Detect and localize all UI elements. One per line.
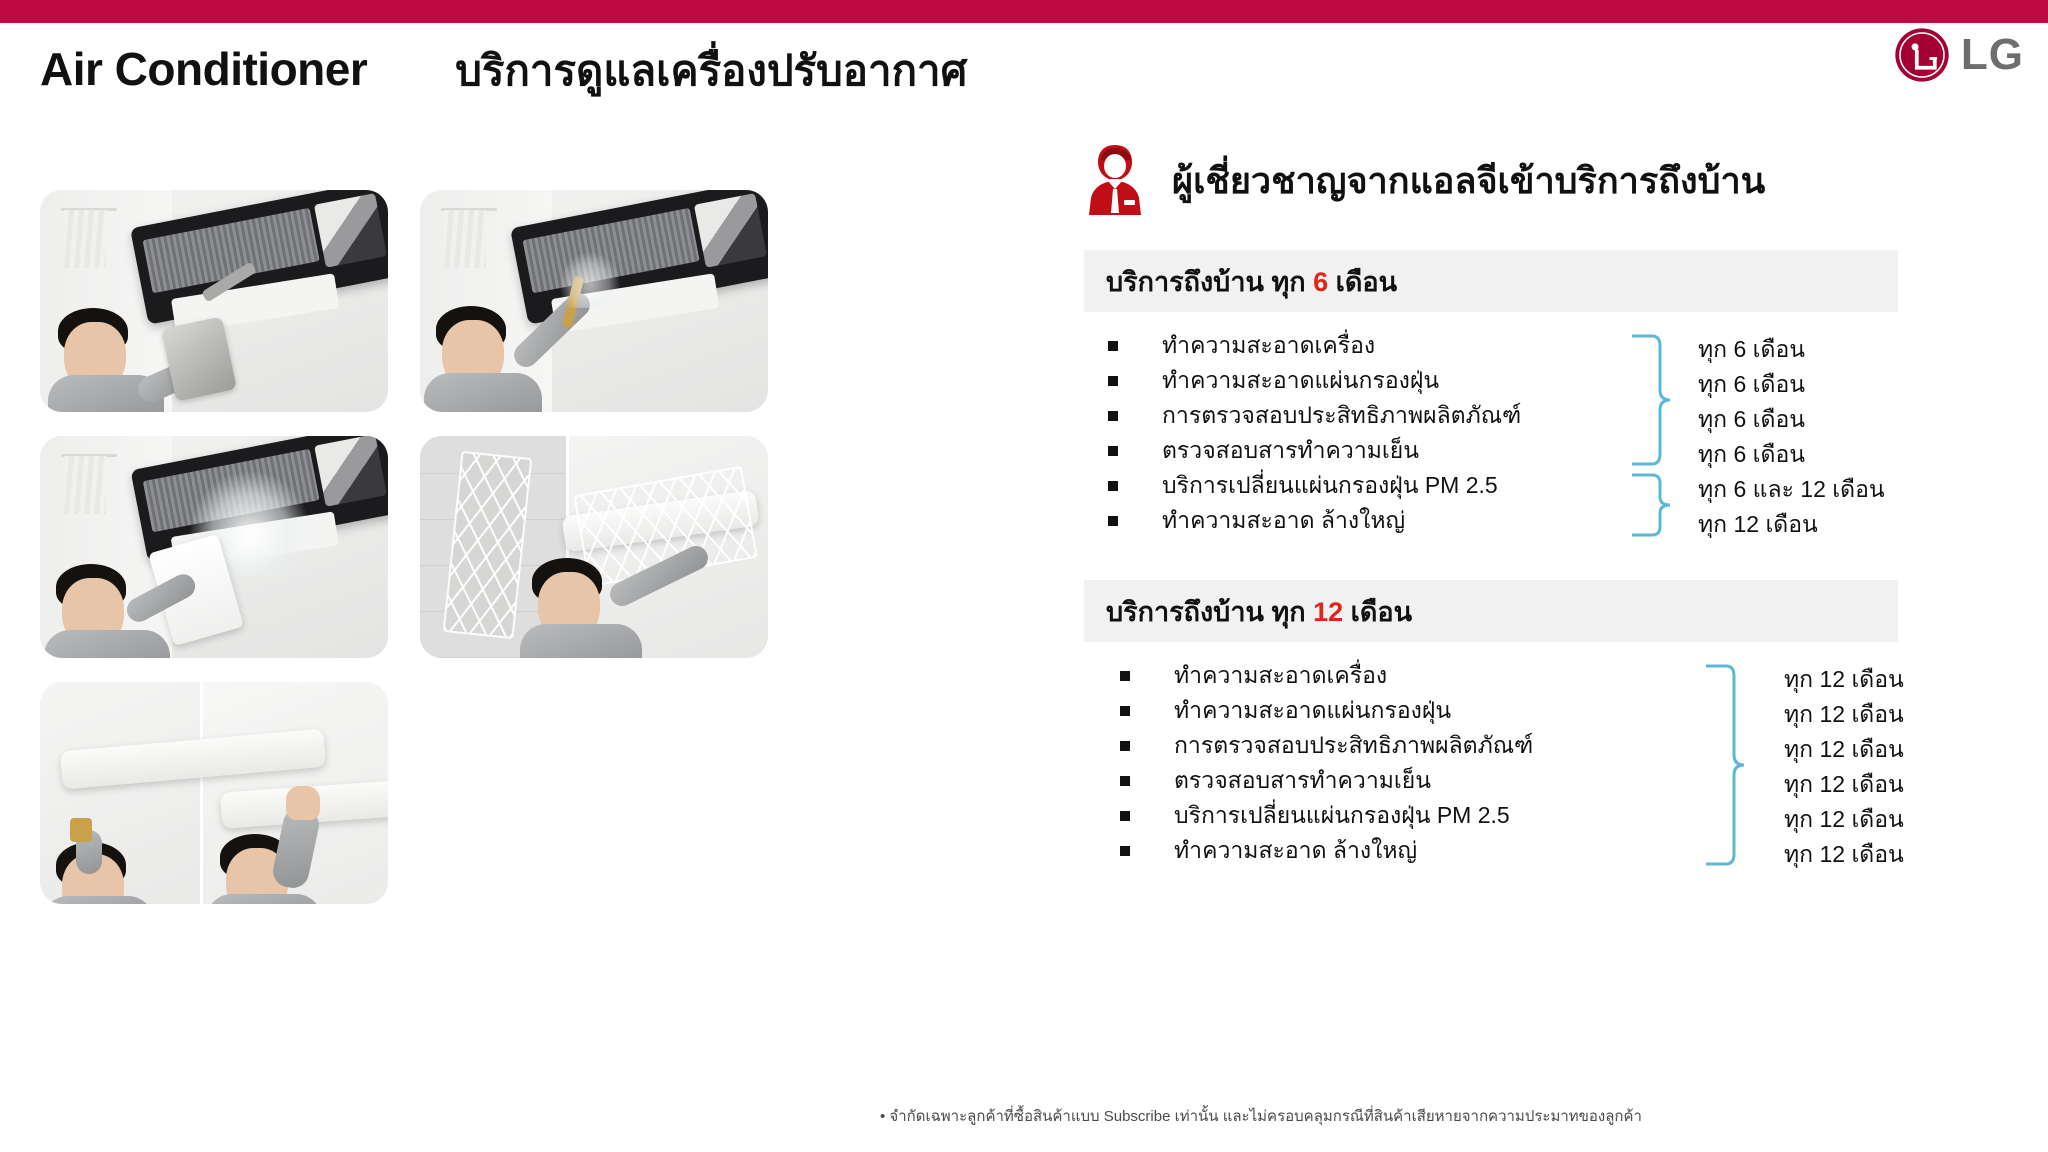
- service-period: ทุก 12 เดือน: [1784, 767, 1904, 803]
- service-item: ตรวจสอบสารทำความเย็น: [1162, 433, 1419, 469]
- service-item: การตรวจสอบประสิทธิภาพผลิตภัณฑ์: [1162, 398, 1521, 434]
- service-item: ทำความสะอาดเครื่อง: [1174, 658, 1387, 694]
- section-6-months-rows: ทำความสะอาดเครื่อง ทำความสะอาดแผ่นกรองฝุ…: [1084, 328, 2004, 558]
- bullet-icon: [1108, 481, 1118, 491]
- footnote: • จำกัดเฉพาะลูกค้าที่ซื้อสินค้าแบบ Subsc…: [880, 1104, 1642, 1128]
- photo-grid: [40, 190, 1040, 1060]
- service-item: บริการเปลี่ยนแผ่นกรองฝุ่น PM 2.5: [1162, 468, 1498, 504]
- bullet-icon: [1120, 811, 1130, 821]
- service-period: ทุก 6 เดือน: [1698, 367, 1805, 403]
- title-english: Air Conditioner: [40, 42, 367, 96]
- service-period: ทุก 12 เดือน: [1784, 697, 1904, 733]
- table-row: ทำความสะอาดเครื่อง: [1084, 328, 2004, 363]
- service-period: ทุก 12 เดือน: [1784, 662, 1904, 698]
- service-item: ทำความสะอาดแผ่นกรองฝุ่น: [1162, 363, 1439, 399]
- technician-icon: [1084, 143, 1146, 217]
- service-details-panel: ผู้เชี่ยวชาญจากแอลจีเข้าบริการถึงบ้าน บร…: [1084, 132, 2004, 888]
- section-12-months-header: บริการถึงบ้าน ทุก 12 เดือน: [1084, 580, 1898, 642]
- bullet-icon: [1120, 846, 1130, 856]
- section-number: 6: [1313, 267, 1328, 297]
- service-item: ทำความสะอาด ล้างใหญ่: [1174, 833, 1417, 869]
- lg-logo: LG: [1893, 26, 2024, 84]
- service-period: ทุก 6 เดือน: [1698, 437, 1805, 473]
- service-period: ทุก 12 เดือน: [1698, 507, 1818, 543]
- lg-wordmark: LG: [1961, 33, 2024, 77]
- bullet-icon: [1120, 706, 1130, 716]
- page-title: Air Conditioner บริการดูแลเครื่องปรับอาก…: [40, 38, 967, 104]
- table-row: ทำความสะอาด ล้างใหญ่: [1084, 503, 2004, 538]
- slide-root: Air Conditioner บริการดูแลเครื่องปรับอาก…: [0, 0, 2048, 1152]
- service-period: ทุก 12 เดือน: [1784, 837, 1904, 873]
- photo-filter-replacement: [420, 436, 768, 658]
- section-12-months: บริการถึงบ้าน ทุก 12 เดือน ทำความสะอาดเค…: [1084, 580, 2004, 888]
- top-accent-bar: [0, 0, 2048, 23]
- table-row: ตรวจสอบสารทำความเย็น: [1084, 433, 2004, 468]
- bullet-icon: [1108, 376, 1118, 386]
- service-period: ทุก 6 เดือน: [1698, 332, 1805, 368]
- service-item: ตรวจสอบสารทำความเย็น: [1174, 763, 1431, 799]
- photo-vacuum-cleaning: [40, 190, 388, 412]
- photo-steam-cleaning: [40, 436, 388, 658]
- brace-icon: [1704, 662, 1750, 868]
- service-item: ทำความสะอาดเครื่อง: [1162, 328, 1375, 364]
- service-item: ทำความสะอาดแผ่นกรองฝุ่น: [1174, 693, 1451, 729]
- lead-text: ผู้เชี่ยวชาญจากแอลจีเข้าบริการถึงบ้าน: [1172, 152, 1765, 209]
- bullet-icon: [1120, 776, 1130, 786]
- service-period: ทุก 12 เดือน: [1784, 732, 1904, 768]
- photo-spray-cleaning: [420, 190, 768, 412]
- service-period: ทุก 6 และ 12 เดือน: [1698, 472, 1885, 508]
- brace-icon: [1630, 472, 1676, 538]
- service-item: ทำความสะอาด ล้างใหญ่: [1162, 503, 1405, 539]
- bullet-icon: [1120, 671, 1130, 681]
- photo-final-inspection: [40, 682, 388, 904]
- lg-circle-face-icon: [1893, 26, 1951, 84]
- bullet-icon: [1108, 516, 1118, 526]
- table-row: ทำความสะอาดแผ่นกรองฝุ่น: [1084, 363, 2004, 398]
- table-row: การตรวจสอบประสิทธิภาพผลิตภัณฑ์: [1084, 398, 2004, 433]
- section-12-months-rows: ทำความสะอาดเครื่อง ทำความสะอาดแผ่นกรองฝุ…: [1084, 658, 2004, 888]
- service-period: ทุก 6 เดือน: [1698, 402, 1805, 438]
- brace-icon: [1630, 332, 1676, 468]
- section-12-months-title: บริการถึงบ้าน ทุก 12 เดือน: [1106, 590, 1412, 633]
- bullet-icon: [1108, 341, 1118, 351]
- section-6-months: บริการถึงบ้าน ทุก 6 เดือน ทำความสะอาดเคร…: [1084, 250, 2004, 558]
- section-6-months-header: บริการถึงบ้าน ทุก 6 เดือน: [1084, 250, 1898, 312]
- service-item: การตรวจสอบประสิทธิภาพผลิตภัณฑ์: [1174, 728, 1533, 764]
- bullet-icon: [1108, 446, 1118, 456]
- title-thai: บริการดูแลเครื่องปรับอากาศ: [455, 38, 967, 104]
- section-number: 12: [1313, 597, 1343, 627]
- lead-banner: ผู้เชี่ยวชาญจากแอลจีเข้าบริการถึงบ้าน: [1084, 132, 2004, 228]
- bullet-icon: [1120, 741, 1130, 751]
- bullet-icon: [1108, 411, 1118, 421]
- section-6-months-title: บริการถึงบ้าน ทุก 6 เดือน: [1106, 260, 1397, 303]
- service-item: บริการเปลี่ยนแผ่นกรองฝุ่น PM 2.5: [1174, 798, 1510, 834]
- service-period: ทุก 12 เดือน: [1784, 802, 1904, 838]
